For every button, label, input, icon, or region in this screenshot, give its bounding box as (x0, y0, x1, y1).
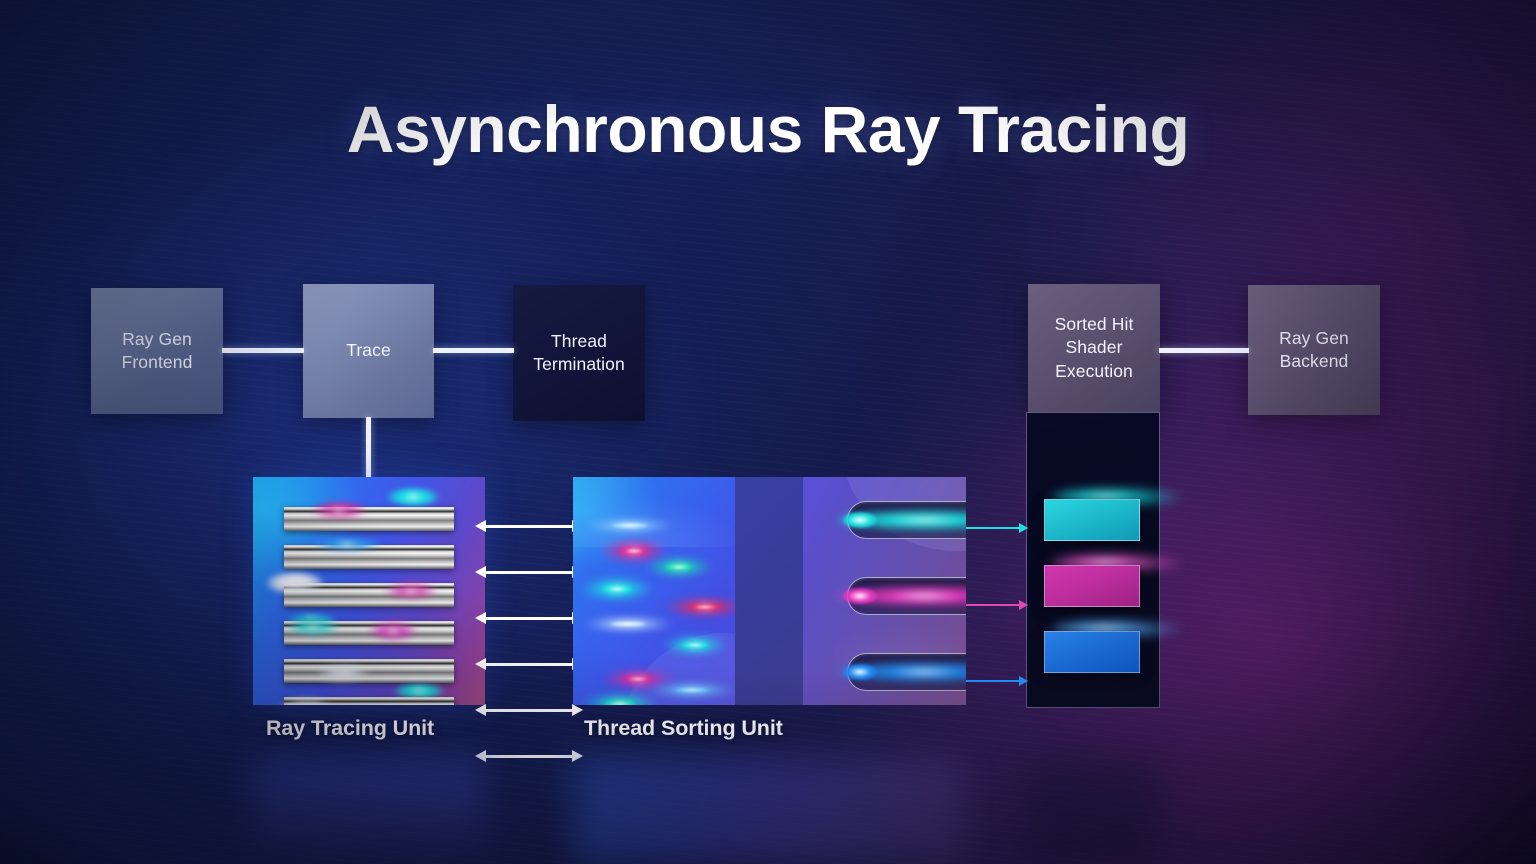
sorted-thread-particle-core (621, 547, 647, 555)
ray-tracing-bar (284, 659, 454, 683)
bidirectional-arrow (475, 658, 583, 670)
sorted-thread-particle-core (666, 564, 692, 570)
connector-frontend-to-trace (222, 348, 304, 353)
flow-box-label-line2: Backend (1279, 350, 1349, 373)
sorted-thread-particle-core (603, 585, 632, 593)
connector-sorted-hit-to-raygen-backend (1159, 348, 1249, 353)
flow-box-sorted-hit-shader-execution[interactable]: Sorted Hit Shader Execution (1028, 284, 1160, 412)
thread-streak-head (843, 588, 877, 604)
arrow-shaft (483, 617, 575, 620)
flow-box-label-line1: Ray Gen (1279, 327, 1349, 350)
reflection-ray-tracing-unit (253, 758, 485, 864)
ray-tracing-bar (284, 545, 454, 569)
bidirectional-arrow (475, 520, 583, 532)
arrow-head-right (1019, 523, 1028, 533)
flow-box-label-line2: Shader (1055, 336, 1134, 359)
arrow-head-right (572, 704, 583, 716)
thread-output-arrow (966, 676, 1028, 686)
bidirectional-arrow (475, 750, 583, 762)
arrow-shaft (483, 663, 575, 666)
flow-box-trace[interactable]: Trace (303, 284, 434, 418)
flow-box-label-line1: Ray Gen (122, 328, 193, 351)
arrow-shaft (966, 527, 1019, 530)
flow-box-label-line2: Termination (533, 353, 625, 376)
connector-trace-to-thread-termination (433, 348, 514, 353)
arrow-shaft (483, 525, 575, 528)
flow-box-label-line1: Trace (346, 339, 391, 362)
shader-execution-rect (1044, 565, 1140, 607)
thread-sorting-unit-right-panel (803, 477, 966, 705)
flow-box-raygen-frontend[interactable]: Ray Gen Frontend (91, 288, 223, 414)
bidirectional-arrow (475, 612, 583, 624)
arrow-shaft (966, 680, 1019, 683)
bidirectional-arrow (475, 704, 583, 716)
bidirectional-arrow (475, 566, 583, 578)
thread-output-arrow (966, 523, 1028, 533)
sorted-thread-particle-core (682, 642, 708, 648)
bidirectional-arrow-group (475, 500, 587, 680)
arrow-head-right (1019, 676, 1028, 686)
arrow-shaft (483, 709, 575, 712)
flow-box-label-line2: Frontend (122, 351, 193, 374)
thread-sorting-unit-left-panel (573, 477, 735, 705)
label-ray-tracing-unit: Ray Tracing Unit (266, 716, 434, 741)
ray-glow-highlight (387, 488, 439, 506)
arrow-shaft (483, 571, 575, 574)
arrow-shaft (966, 604, 1019, 607)
flow-box-label-line1: Sorted Hit (1055, 313, 1134, 336)
flow-box-raygen-backend[interactable]: Ray Gen Backend (1248, 285, 1380, 415)
arrow-head-right (572, 750, 583, 762)
thread-output-arrow (966, 600, 1028, 610)
sorted-hit-shader-execution-column (1026, 412, 1160, 708)
ray-tracing-bar (284, 507, 454, 531)
thread-streak-head (843, 512, 877, 528)
thread-sorting-unit-middle-panel (735, 477, 803, 705)
reflection-thread-sorting-unit (573, 758, 966, 864)
connector-trace-to-ray-tracing-unit (366, 417, 371, 479)
reflection-shader-column (1026, 758, 1160, 864)
flow-box-label-line1: Thread (533, 330, 625, 353)
sorted-thread-particle-core (613, 523, 647, 527)
ray-glow (387, 488, 439, 506)
slide-canvas: Asynchronous Ray Tracing Ray Gen Fronten… (0, 0, 1536, 864)
flow-box-label-line3: Execution (1055, 360, 1134, 383)
page-title: Asynchronous Ray Tracing (0, 96, 1536, 162)
arrow-shaft (483, 755, 575, 758)
ray-tracing-bar (284, 583, 454, 607)
thread-streak-head (843, 664, 877, 680)
panel-sheen (573, 477, 735, 547)
ray-tracing-bar (284, 621, 454, 645)
arrow-head-right (1019, 600, 1028, 610)
shader-execution-rect (1044, 499, 1140, 541)
ray-tracing-unit-panel (253, 477, 485, 705)
flow-box-thread-termination[interactable]: Thread Termination (513, 285, 645, 421)
shader-execution-rect (1044, 631, 1140, 673)
ray-tracing-bar (284, 697, 454, 705)
sorted-thread-particle-core (605, 700, 635, 705)
label-thread-sorting-unit: Thread Sorting Unit (584, 716, 783, 741)
